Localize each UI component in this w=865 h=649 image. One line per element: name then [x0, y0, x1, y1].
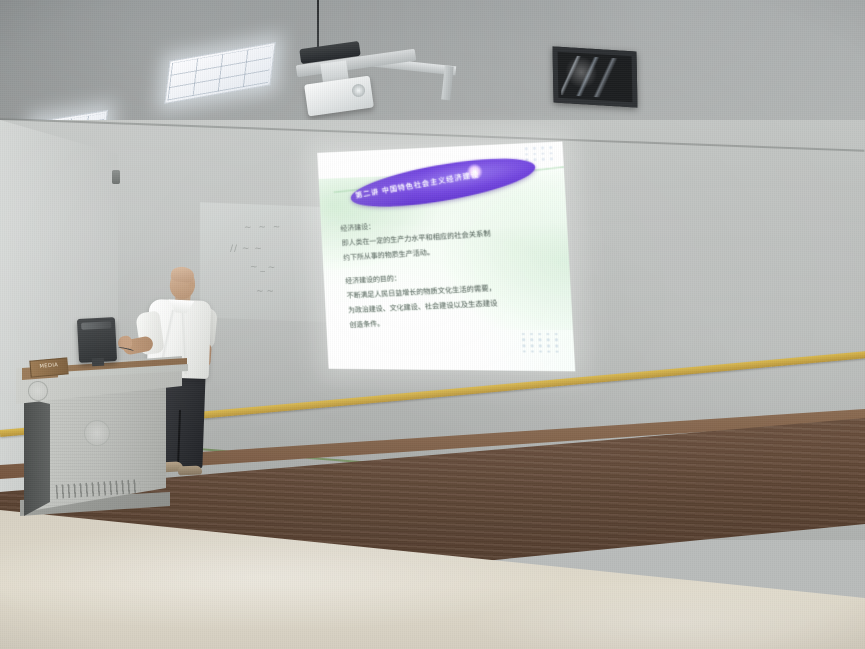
hanging-cable	[317, 0, 319, 47]
presenter-shoe	[178, 466, 202, 476]
lecture-hall-scene: ~ ~ ~ // ~ ~ ~ _ ~ ~ ~ 第二讲 中国特色社会主义经济建设 …	[0, 0, 865, 649]
wall-fixture	[112, 170, 120, 184]
podium-side-panel	[24, 398, 50, 516]
whiteboard-mark: ~ _ ~	[250, 262, 275, 273]
whiteboard-mark: // ~ ~	[230, 244, 263, 254]
podium-emblem-secondary	[28, 381, 48, 401]
podium-nameplate-text: MEDIA	[31, 361, 67, 370]
projected-slide: 第二讲 中国特色社会主义经济建设 经济建设： 即人类在一定的生产力水平和相应的社…	[317, 141, 575, 371]
monitor-icon[interactable]	[77, 317, 117, 363]
slide-dot-decoration	[522, 333, 561, 353]
whiteboard-mark: ~ ~ ~	[244, 222, 283, 232]
whiteboard-mark: ~ ~	[256, 287, 274, 297]
podium-nameplate: MEDIA	[29, 357, 68, 377]
wall-panel-icon	[553, 46, 638, 107]
whiteboard: ~ ~ ~ // ~ ~ ~ _ ~ ~ ~	[200, 202, 340, 323]
monitor-stand	[92, 358, 104, 367]
presenter-ear	[189, 282, 195, 290]
slide-body: 经济建设： 即人类在一定的生产力水平和相应的社会关系制 约下所从事的物质生产活动…	[340, 209, 557, 334]
